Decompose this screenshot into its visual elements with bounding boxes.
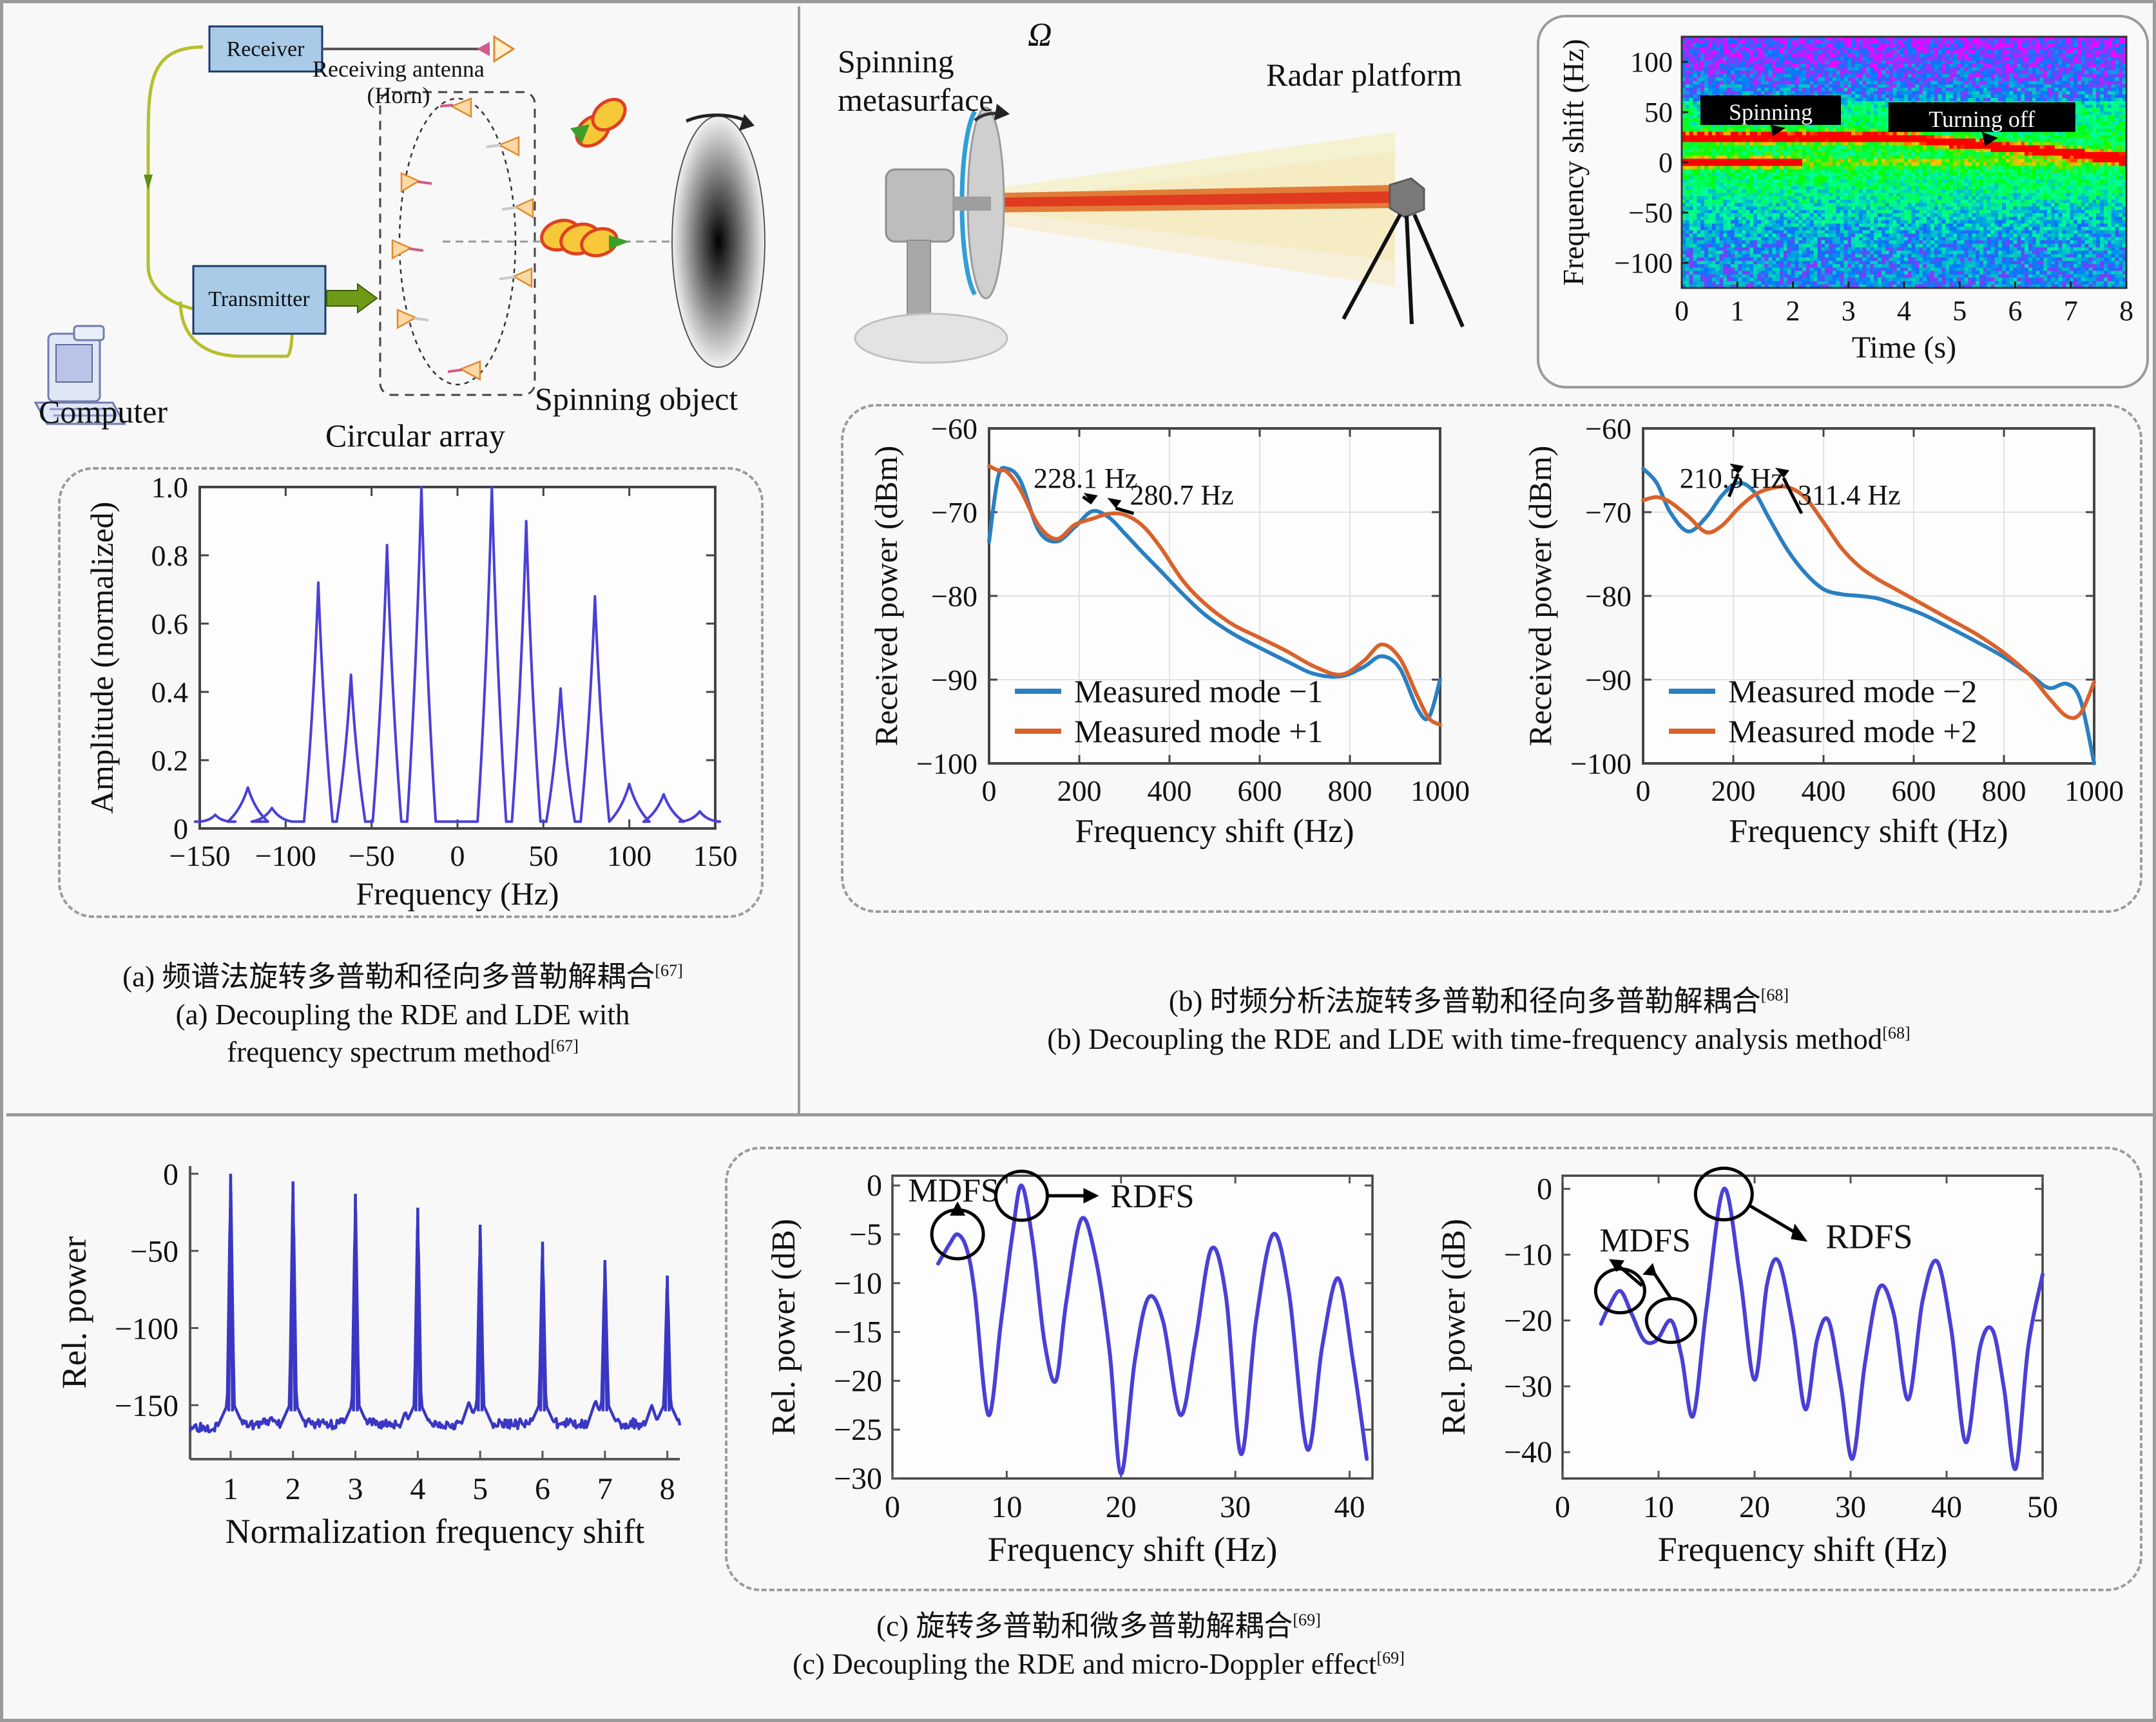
svg-text:0.6: 0.6 [151,607,189,640]
wire-arrow-down-icon [144,175,153,190]
transmit-arrow-icon [327,284,377,312]
caption-a: (a) 频谱法旋转多普勒和径向多普勒解耦合[67] (a) Decoupling… [23,958,783,1071]
svg-text:−50: −50 [349,839,395,872]
caption-c-cn-text: (c) 旋转多普勒和微多普勒解耦合 [876,1610,1293,1642]
caption-b-en-text: (b) Decoupling the RDE and LDE with time… [1047,1023,1882,1055]
spinning-metasurface-line1: Spinning [838,43,954,79]
caption-a-cn: (a) 频谱法旋转多普勒和径向多普勒解耦合[67] [23,958,783,996]
receiving-antenna-line1: Receiving antenna [313,56,485,82]
omega-symbol-label: Ω [1028,16,1052,54]
received-power-mode2-chart: 02004006008001000−100−90−80−70−60210.5 H… [1505,409,2142,908]
computer-label: Computer [39,393,168,430]
spinning-object-label: Spinning object [535,380,738,417]
caption-b-cn: (b) 时频分析法旋转多普勒和径向多普勒解耦合[68] [809,982,2149,1020]
caption-a-en-ref: [67] [550,1037,578,1055]
svg-text:0.4: 0.4 [151,676,189,709]
svg-text:−100: −100 [255,839,316,872]
svg-text:0: 0 [173,812,188,845]
spin-arrow-icon [739,114,755,131]
figure-root: Receiver Transmitter [0,0,2156,1722]
vortex-beam-icon [538,216,630,260]
radar-head [1390,178,1424,217]
motor-shaft [952,196,991,211]
caption-c-en-ref: [69] [1376,1649,1404,1667]
svg-text:1.0: 1.0 [151,471,189,504]
spinning-metasurface-line2: metasurface [838,82,994,118]
svg-text:Frequency (Hz): Frequency (Hz) [356,875,559,912]
caption-c-en: (c) Decoupling the RDE and micro-Doppler… [583,1645,1614,1683]
caption-a-en-2-text: frequency spectrum method [227,1036,550,1068]
receiver-label: Receiver [227,37,305,61]
caption-c-cn: (c) 旋转多普勒和微多普勒解耦合[69] [583,1607,1614,1645]
tripod-leg-mid [1407,216,1412,324]
caption-b-en-ref: [68] [1882,1024,1910,1042]
caption-c: (c) 旋转多普勒和微多普勒解耦合[69] (c) Decoupling the… [583,1607,1614,1683]
motor-base [855,314,1007,363]
spinning-object-icon [672,116,765,367]
transmitter-label: Transmitter [208,287,310,311]
caption-b-en: (b) Decoupling the RDE and LDE with time… [809,1020,2149,1058]
caption-c-cn-ref: [69] [1293,1611,1320,1629]
receiver-feed-arrow-icon [477,42,490,56]
caption-c-en-text: (c) Decoupling the RDE and micro-Doppler… [793,1648,1376,1680]
array-horn-icons [392,99,533,379]
receiving-antenna-label: Receiving antenna (Horn) [313,56,485,110]
caption-a-cn-ref: [67] [655,961,682,980]
normalized-spectrum-c-chart: 12345678−150−100−500Normalization freque… [29,1143,725,1588]
spinning-metasurface-label: Spinning metasurface [838,42,994,119]
mdfs-rdfs-right-chart: 01020304050−40−30−20−100MDFSRDFSFrequenc… [1414,1153,2081,1585]
caption-b: (b) 时频分析法旋转多普勒和径向多普勒解耦合[68] (b) Decoupli… [809,982,2149,1058]
rotation-arrow-icon [994,104,1010,120]
spectrogram-b-chart: 012345678−100−50050100Time (s)Frequency … [1543,17,2149,386]
svg-text:0: 0 [450,839,465,872]
panel-vertical-divider [798,6,800,1115]
svg-text:0.2: 0.2 [151,744,189,777]
circular-array-label: Circular array [325,417,505,454]
mdfs-rdfs-left-chart: 010203040−30−25−20−15−10−50MDFSRDFSFrequ… [744,1153,1411,1585]
svg-text:150: 150 [693,839,738,872]
received-power-mode1-chart: 02004006008001000−100−90−80−70−60228.1 H… [851,409,1488,908]
vortex-beam-upper-icon [570,93,631,153]
caption-b-cn-text: (b) 时频分析法旋转多普勒和径向多普勒解耦合 [1169,985,1761,1017]
svg-text:0.8: 0.8 [151,539,189,572]
receiving-horn-icon [494,37,514,61]
caption-b-cn-ref: [68] [1761,986,1789,1004]
svg-text:100: 100 [607,839,651,872]
spectrum-a-chart: −150−100−5005010015000.20.40.60.81.0Freq… [68,471,757,915]
panel-horizontal-divider [6,1113,2156,1116]
svg-text:Amplitude (normalized): Amplitude (normalized) [84,502,120,814]
caption-a-cn-text: (a) 频谱法旋转多普勒和径向多普勒解耦合 [122,961,655,993]
caption-a-en-1: (a) Decoupling the RDE and LDE with [23,996,783,1034]
circular-array-boundary [380,92,535,395]
svg-text:50: 50 [528,839,558,872]
motor-body [886,169,954,242]
tripod-leg-right [1414,215,1463,327]
radar-platform-label: Radar platform [1266,56,1462,93]
caption-a-en-2: frequency spectrum method[67] [23,1033,783,1071]
receiving-antenna-line2: (Horn) [367,82,430,108]
